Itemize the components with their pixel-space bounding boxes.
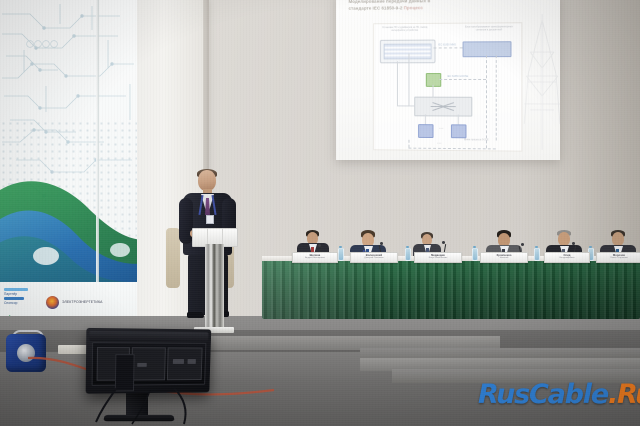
watermark: RusCable.Ru (478, 381, 640, 408)
diagram-link-1 (397, 61, 398, 106)
nameplate-3: Медведев Игорь Николаевич (414, 252, 462, 263)
monitor-rear-recess (92, 342, 207, 386)
diagram-protocol-left: IEC 61850 MMS (434, 43, 461, 46)
water-bottle-1 (338, 248, 344, 261)
monitor-port-hdmi (173, 359, 184, 364)
water-bottle-cap-2 (406, 246, 409, 248)
nameplate-6-role: Павел Сергеевич (597, 257, 640, 259)
diagram-dashed-v1 (486, 55, 487, 148)
monitor-top-bezel (89, 331, 208, 342)
sponsor-chip-1: Партнёр (4, 292, 17, 296)
nameplate-2-role: Дмитрий Павлович (351, 257, 397, 259)
monitor-port-usb (188, 359, 196, 364)
microphone-head-1 (318, 244, 321, 247)
nameplate-5-role: Владимирович (545, 257, 589, 259)
panel-table: Шелков Андрей Викторович Волконский Дмит… (262, 236, 640, 322)
lectern (192, 228, 236, 336)
nameplate-6: Морозов Павел Сергеевич (596, 252, 640, 263)
confidence-monitor-rear (86, 328, 218, 426)
diagram-dashed-h2 (439, 79, 486, 80)
sponsor-bar-2 (4, 297, 24, 300)
sponsor-emblem-icon (46, 296, 59, 309)
nameplate-4-role: Николай (481, 257, 527, 259)
wave-graphic (0, 158, 137, 293)
diagram-footer-note: Шина процесса 9-2LE (459, 138, 494, 141)
diagram-protocol-right: IEC 61850 GOOSE (443, 75, 472, 78)
presenter-badge (206, 215, 214, 224)
nameplate-1: Шелков Андрей Викторович (292, 252, 338, 263)
microphone-head-5 (572, 242, 575, 245)
banner-seam (96, 0, 99, 330)
diagram-ellipsis-1: • • • (434, 127, 449, 130)
diagram-node-switch (414, 97, 472, 117)
transmission-tower-icon (522, 12, 560, 152)
conference-photo-scene: Партнёр Спонсор ЭЛЕКТРОЭНЕРГЕТИКА cigre … (0, 0, 640, 426)
event-backdrop-banner: Партнёр Спонсор ЭЛЕКТРОЭНЕРГЕТИКА cigre … (0, 0, 137, 330)
diagram-link-5 (425, 114, 426, 124)
sponsor-chip-2: Спонсор (4, 301, 17, 305)
microphone-head-3 (442, 241, 445, 244)
nameplate-5: Спид Владимирович (544, 252, 590, 263)
diagram-link-2 (397, 105, 415, 106)
diagram-caption-left: Установка ПО и драйверов на ПК, вывод ин… (380, 26, 430, 33)
monitor-cables (92, 384, 212, 426)
watermark-suffix: .Ru (608, 379, 640, 410)
panel-table-skirt-sheen (262, 261, 640, 319)
lectern-stem (205, 244, 224, 330)
water-bottle-cap-5 (589, 246, 592, 248)
nameplate-3-role: Игорь Николаевич (415, 257, 461, 259)
water-bottle-3 (472, 248, 478, 261)
water-bottle-cap-1 (339, 246, 342, 248)
diagram-node-ied-n (451, 124, 467, 138)
watermark-primary: RusCable (478, 379, 608, 410)
water-bottle-cap-3 (473, 246, 476, 248)
slide-title: Моделирование передачи данных в стандарт… (349, 0, 543, 12)
water-bottle-2 (405, 248, 411, 261)
sponsor-bar-1 (4, 288, 28, 291)
presenter-arm-left (179, 198, 193, 244)
slide-diagram: Установка ПО и драйверов на ПК, вывод ин… (373, 22, 522, 151)
sponsor-name: ЭЛЕКТРОЭНЕРГЕТИКА (62, 300, 102, 304)
monitor-port-av (137, 363, 147, 367)
nameplate-1-role: Андрей Викторович (293, 257, 337, 259)
diagram-dashed-v2 (496, 55, 497, 140)
microphone-head-2 (380, 242, 383, 245)
diagram-link-6 (458, 115, 459, 125)
diagram-caption-right: Блок преобразования трансформаторных сиг… (463, 25, 516, 32)
diagram-node-ied-1 (418, 124, 433, 138)
water-bottle-cap-4 (535, 246, 538, 248)
diagram-dashed-h3 (434, 47, 463, 48)
water-bottle-4 (534, 248, 540, 261)
projection-screen: Моделирование передачи данных в стандарт… (336, 0, 560, 160)
diagram-link-3 (409, 53, 410, 106)
diagram-dashed-h1 (409, 148, 496, 150)
microphone-head-4 (521, 243, 524, 246)
nameplate-4: Хромченко Николай (480, 252, 528, 263)
diagram-ellipsis-2: • • • (430, 142, 449, 145)
diagram-link-4 (433, 85, 434, 98)
presenter-head (198, 170, 216, 191)
diagram-node-merging-unit (463, 41, 512, 57)
diagram-dashed-v3 (409, 140, 410, 148)
nameplate-2: Волконский Дмитрий Павлович (350, 252, 398, 263)
